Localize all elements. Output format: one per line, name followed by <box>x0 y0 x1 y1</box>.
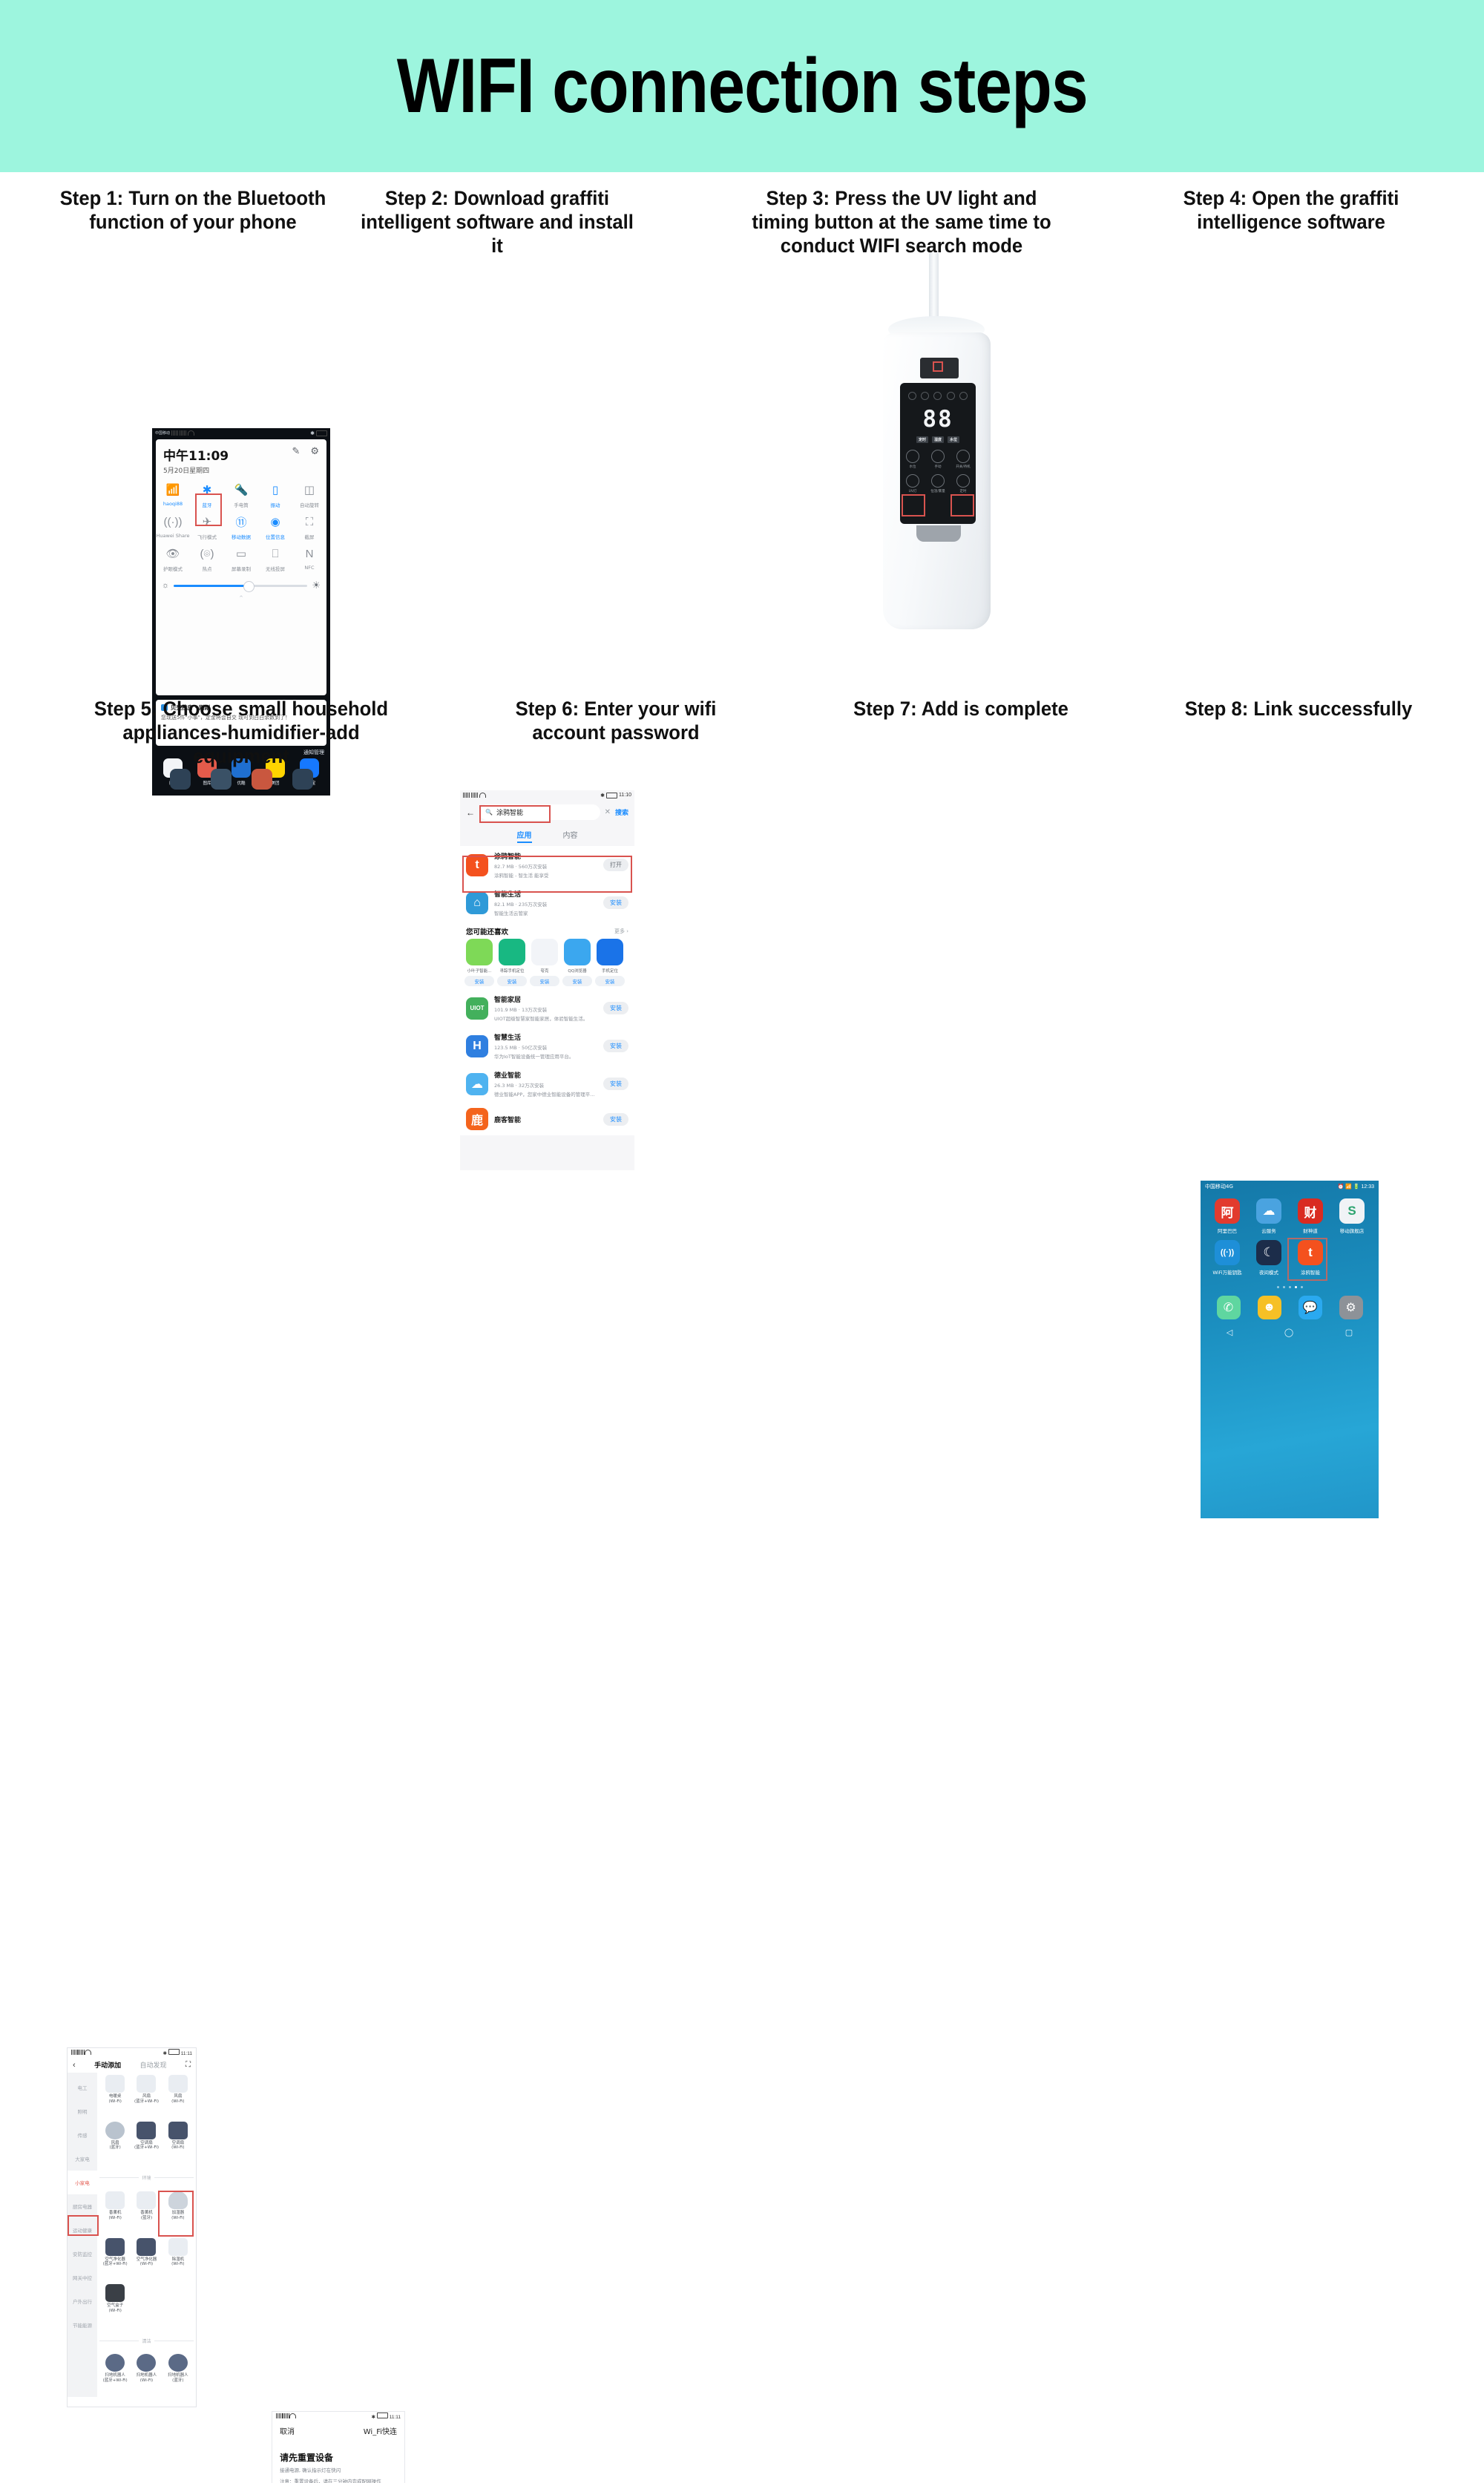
app-night-mode[interactable]: ☾夜间模式 <box>1248 1240 1290 1276</box>
device-base <box>916 525 961 542</box>
display-tags: 定时 湿度 水位 <box>900 436 976 443</box>
toggle-label: Huawei Share <box>157 533 190 539</box>
brightness-high-icon: ☀ <box>312 580 321 591</box>
recommend-item[interactable]: 小叶子智能...安装 <box>464 939 494 986</box>
water-icon <box>947 392 955 400</box>
device-item[interactable]: 空气盒子(Wi-Fi) <box>99 2284 131 2327</box>
app-name: 寻踪手机定位 <box>497 968 527 974</box>
sidebar-item-large-appliance[interactable]: 大家电 <box>68 2147 97 2171</box>
phone-icon[interactable]: ✆ <box>1217 1296 1241 1319</box>
app-icon: ☁ <box>1256 1198 1281 1224</box>
status-bar: 中国移动 ✱ <box>152 428 330 438</box>
toggle-label: 手电筒 <box>234 501 249 508</box>
device-thumbnail <box>137 2075 156 2093</box>
signal-icon <box>180 430 186 436</box>
nfc-icon: N <box>301 545 318 562</box>
manual-icon <box>931 450 945 463</box>
install-button[interactable]: 安装 <box>603 1078 628 1090</box>
clock-date: 5月20日星期四 <box>163 465 229 475</box>
app-icon <box>564 939 591 965</box>
app-icon: 财 <box>1298 1198 1323 1224</box>
slider-track[interactable] <box>174 585 307 587</box>
dock: ✆ ☻ 💬 ⚙ <box>1201 1296 1379 1319</box>
app-icon <box>499 939 525 965</box>
app-list-row[interactable]: ☁ 德业智能26.3 MB · 32万次安装德业智能APP，您家中德业智能设备的… <box>460 1065 634 1103</box>
toggle-vibrate[interactable]: ▯振动 <box>258 482 292 508</box>
browser-icon[interactable] <box>292 769 313 790</box>
status-time: 12:33 <box>1361 1184 1374 1190</box>
toggle-label: 截屏 <box>305 533 315 540</box>
messages-icon[interactable]: 💬 <box>1298 1296 1322 1319</box>
app-meta: 82.1 MB · 235万次安装 <box>494 900 597 908</box>
eye-comfort-icon: 👁 <box>165 545 181 562</box>
contacts-icon[interactable] <box>211 769 232 790</box>
digital-display: 88 <box>900 406 976 433</box>
camera-icon[interactable] <box>252 769 272 790</box>
phone-icon[interactable] <box>170 769 191 790</box>
install-button[interactable]: 安装 <box>464 976 494 986</box>
device-thumbnail <box>137 2238 156 2256</box>
toggle-eye-comfort[interactable]: 👁护眼模式 <box>156 545 190 572</box>
install-button[interactable]: 安装 <box>603 1040 628 1052</box>
device-thumbnail <box>137 2354 156 2372</box>
toggle-label: NFC <box>304 565 314 571</box>
toggle-nfc[interactable]: NNFC <box>292 545 326 572</box>
screenshot-icon: ⛶ <box>301 514 318 530</box>
app-list-row[interactable]: 鹿 鹿客智能 安装 <box>460 1103 634 1135</box>
install-button[interactable]: 安装 <box>530 976 559 986</box>
toggle-location[interactable]: ◉位置信息 <box>258 514 292 540</box>
app-list-row[interactable]: H 智慧生活123.5 MB · 50亿次安装华为IoT智能设备统一管理应用平台… <box>460 1027 634 1065</box>
device-thumbnail <box>105 2238 125 2256</box>
signal-icon <box>78 2050 85 2055</box>
device-thumbnail <box>137 2191 156 2209</box>
toggle-label: 热点 <box>203 565 212 572</box>
tag-water: 水位 <box>948 436 959 443</box>
step-6-heading: Step 6: Enter your wifi account password <box>482 698 750 745</box>
step-5-heading: Step 5: Choose small household appliance… <box>72 698 410 769</box>
power-icon <box>933 392 942 400</box>
wifi-icon: 📶 <box>165 482 181 498</box>
toggle-label: 位置信息 <box>266 533 285 540</box>
app-icon: S <box>1339 1198 1365 1224</box>
device-thumbnail <box>105 2122 125 2139</box>
tab-manual-add[interactable]: 手动添加 <box>94 2060 121 2070</box>
app-desc: 德业智能APP，您家中德业智能设备的管理平... <box>494 1090 597 1098</box>
toggle-auto-rotate[interactable]: ◫自动旋转 <box>292 482 326 508</box>
signal-icon <box>283 2413 289 2418</box>
huawei-share-icon: ((·)) <box>165 514 181 530</box>
button-water-level[interactable]: 水位 <box>900 450 925 469</box>
button-uv-light[interactable]: UV灯 <box>900 474 925 493</box>
collapse-handle-icon[interactable]: ⌃ <box>156 594 326 603</box>
reset-title: 请先重置设备 <box>272 2451 404 2464</box>
install-button[interactable]: 安装 <box>497 976 527 986</box>
page-title: WIFI connection steps <box>396 42 1087 131</box>
gear-icon[interactable]: ⚙ <box>310 445 319 457</box>
timer-button-highlight-box <box>951 494 974 516</box>
alarm-icon: ⏰ <box>1337 1184 1344 1190</box>
app-meta: 26.3 MB · 32万次安装 <box>494 1081 597 1089</box>
section-environment: 环境 <box>99 2168 194 2188</box>
page-indicator <box>1201 1286 1379 1288</box>
app-icon <box>597 939 623 965</box>
device-thumbnail <box>168 2354 188 2372</box>
step-4-heading: Step 4: Open the graffiti intelligence s… <box>1150 187 1432 234</box>
sidebar-item-energy[interactable]: 节能能源 <box>68 2313 97 2337</box>
install-button[interactable]: 安装 <box>603 1002 628 1014</box>
status-bar: ✱ 11:11 <box>272 2412 404 2421</box>
app-wifi-master[interactable]: ((·))WiFi万能钥匙 <box>1206 1240 1248 1276</box>
bluetooth-icon: ✱ <box>163 2051 167 2056</box>
step-2-heading: Step 2: Download graffiti intelligent so… <box>356 187 638 258</box>
step-8-heading: Step 8: Link successfully <box>1158 698 1439 721</box>
step-1-heading: Step 1: Turn on the Bluetooth function o… <box>52 187 334 234</box>
clock-time: 中午11:09 <box>163 445 229 464</box>
step-2-screenshot: ✕ ✱11:10 ← 🔍 涂鸦智能 ✕ 搜索 应用 内容 t 涂鸦智能 82.7… <box>460 790 634 1170</box>
toggle-label: haoqi88 <box>163 501 183 507</box>
recommend-title: 您可能还喜欢 <box>466 926 508 937</box>
brightness-slider[interactable]: ☼ ☀ <box>156 580 326 591</box>
app-desc: 华为IoT智能设备统一管理应用平台。 <box>494 1052 597 1060</box>
app-list-row[interactable]: UIOT 智能家居101.9 MB · 13万次安装UIOT超级智慧家智能家居，… <box>460 989 634 1027</box>
header: ‹ 手动添加 自动发现 ⛶ <box>68 2057 196 2073</box>
humidity-icon <box>921 392 929 400</box>
app-cloud[interactable]: ☁云服务 <box>1248 1198 1290 1234</box>
sidebar-item-small-appliance[interactable]: 小家电 <box>68 2171 97 2194</box>
tag-humidity: 湿度 <box>932 436 944 443</box>
toggle-label: 护眼模式 <box>163 565 183 572</box>
signal-icon <box>171 430 178 436</box>
status-bar: ✱11:10 <box>460 790 634 800</box>
app-icon <box>531 939 558 965</box>
tuya-app-highlight-box <box>1287 1238 1327 1281</box>
bluetooth-icon: ✱ <box>600 793 605 798</box>
app-mobile-store[interactable]: S移动旗舰店 <box>1331 1198 1373 1234</box>
toggle-wifi[interactable]: 📶haoqi88 <box>156 482 190 508</box>
step-4-screenshot: 中国移动4G ⏰ 📶 🔋 12:33 阿阿里巴巴 ☁云服务 财财神道 S移动旗舰… <box>1201 1181 1379 1518</box>
device-thumbnail <box>105 2284 125 2302</box>
recommend-item[interactable]: 手机定位安装 <box>595 939 625 986</box>
reset-card: 请先重置设备 接通电源, 确认指示灯在快闪 注意：重置设备后，请在三分钟内完成配… <box>272 2441 404 2483</box>
button-timer[interactable]: 定时 <box>951 474 976 493</box>
device-thumbnail <box>105 2191 125 2209</box>
app-caishendao[interactable]: 财财神道 <box>1290 1198 1331 1234</box>
tab-content[interactable]: 内容 <box>563 829 578 843</box>
app-icon: ((·)) <box>1215 1240 1240 1265</box>
wifi-icon <box>188 430 194 436</box>
device-item[interactable]: 扫地机器人(Wi-Fi) <box>131 2354 162 2397</box>
device-item[interactable]: 扫地机器人(蓝牙+Wi-Fi) <box>99 2354 131 2397</box>
wifi-icon <box>289 2413 296 2418</box>
clear-icon[interactable]: ✕ <box>605 808 611 816</box>
device-thumbnail <box>168 2122 188 2139</box>
recommend-item[interactable]: 寻踪手机定位安装 <box>497 939 527 986</box>
settings-icon[interactable]: ⚙ <box>1339 1296 1363 1319</box>
signal-icon <box>71 2050 78 2055</box>
small-appliance-highlight-box <box>68 2215 99 2236</box>
hotspot-icon: (⌾) <box>199 545 215 562</box>
bluetooth-highlight-box <box>195 493 222 526</box>
toggle-hotspot[interactable]: (⌾)热点 <box>190 545 224 572</box>
app-name: 鹿客智能 <box>494 1115 597 1124</box>
mode-label[interactable]: Wi_Fi快连 <box>364 2425 397 2436</box>
toggle-label: 飞行模式 <box>197 533 217 540</box>
bluetooth-icon: ✱ <box>372 2415 375 2420</box>
toggle-label: 屏幕录制 <box>232 565 251 572</box>
step-5-device-list-screenshot: ✱ 11:11 ‹ 手动添加 自动发现 ⛶ 电工 照明 传感 大家电 小家电 厨… <box>67 2047 197 2407</box>
reset-desc-1: 接通电源, 确认指示灯在快闪 <box>272 2464 404 2475</box>
device-item[interactable]: 扫地机器人(蓝牙) <box>162 2354 194 2397</box>
section-cleaning: 清洁 <box>99 2331 194 2351</box>
battery-icon <box>606 793 617 798</box>
auto-rotate-icon: ◫ <box>301 482 318 498</box>
carrier-label: 中国移动 <box>155 430 170 436</box>
install-button[interactable]: 安装 <box>603 1113 628 1126</box>
app-desc: UIOT超级智慧家智能家居，体验智能生活。 <box>494 1014 597 1022</box>
cast-icon: ⎕ <box>267 545 283 562</box>
edit-icon[interactable]: ✎ <box>292 445 300 457</box>
sidebar-item-security[interactable]: 安防监控 <box>68 2242 97 2266</box>
app-desc: 智能生活云管家 <box>494 909 597 916</box>
device-item[interactable]: 电暖桌(Wi-Fi) <box>99 2075 131 2118</box>
app-name: 小叶子智能... <box>464 968 494 974</box>
app-name: 手机定位 <box>595 968 625 974</box>
status-time: 11:10 <box>619 793 631 798</box>
brightness-low-icon: ☼ <box>162 581 169 590</box>
back-icon[interactable]: ‹ <box>73 2061 76 2070</box>
mode-icon <box>908 392 916 400</box>
sidebar-item-outdoor[interactable]: 户外出行 <box>68 2289 97 2313</box>
tuya-result-highlight-box <box>462 856 632 893</box>
toggle-flashlight[interactable]: 🔦手电筒 <box>224 482 258 508</box>
wifi-icon: 📶 <box>1345 1184 1352 1190</box>
battery-icon <box>377 2413 388 2418</box>
step-5-reset-screenshot: ✱ 11:11 取消 Wi_Fi快连 请先重置设备 接通电源, 确认指示灯在快闪… <box>272 2411 405 2483</box>
button-mist[interactable]: 恒湿/雾量 <box>925 474 951 493</box>
scan-icon[interactable]: ⛶ <box>185 2061 191 2069</box>
water-level-icon <box>906 450 919 463</box>
sidebar-item-gateway[interactable]: 网关中控 <box>68 2266 97 2289</box>
recommend-item[interactable]: QQ浏览器安装 <box>562 939 592 986</box>
tag-timer: 定时 <box>916 436 928 443</box>
mobile-data-icon: ⑪ <box>233 514 249 530</box>
sidebar-item-lighting[interactable]: 照明 <box>68 2099 97 2123</box>
toggle-cast[interactable]: ⎕无线投屏 <box>258 545 292 572</box>
tab-auto-discover[interactable]: 自动发现 <box>140 2060 167 2070</box>
dock <box>160 769 323 790</box>
power-icon <box>956 450 970 463</box>
wifi-icon <box>85 2050 91 2055</box>
cancel-button[interactable]: 取消 <box>280 2425 295 2436</box>
button-manual[interactable]: 手动 <box>925 450 951 469</box>
tab-apps[interactable]: 应用 <box>517 829 532 843</box>
app-meta: 101.9 MB · 13万次安装 <box>494 1006 597 1013</box>
battery-icon <box>316 430 327 436</box>
lock-icon <box>959 392 968 400</box>
wifi-icon <box>479 793 486 798</box>
contacts-icon[interactable]: ☻ <box>1258 1296 1281 1319</box>
bluetooth-icon: ✱ <box>310 430 315 436</box>
slider-knob[interactable] <box>243 581 255 592</box>
humidifier-highlight-box <box>158 2191 194 2237</box>
signal-icon <box>463 793 470 798</box>
install-button[interactable]: 安装 <box>595 976 625 986</box>
toggle-mobile-data[interactable]: ⑪移动数据 <box>224 514 258 540</box>
tab-bar: 应用 内容 <box>460 824 634 846</box>
smart-life-app-icon: ⌂ <box>466 892 488 914</box>
mist-icon <box>931 474 945 488</box>
home-icon[interactable]: ◯ <box>1284 1328 1293 1337</box>
app-meta: 123.5 MB · 50亿次安装 <box>494 1043 597 1051</box>
device-item[interactable]: 空调扇(Wi-Fi) <box>162 2122 194 2165</box>
toggle-label: 移动数据 <box>232 533 251 540</box>
quick-settings-panel: 中午11:09 5月20日星期四 ✎ ⚙ 📶haoqi88 ✱蓝牙 🔦手电筒 ▯… <box>156 439 326 695</box>
search-button[interactable]: 搜索 <box>615 807 628 817</box>
deye-app-icon: ☁ <box>466 1073 488 1095</box>
device-item[interactable]: 空气净化器(Wi-Fi) <box>131 2238 162 2281</box>
back-icon[interactable]: ◁ <box>1227 1328 1232 1337</box>
carrier-label: 中国移动4G <box>1205 1183 1233 1190</box>
recommend-item[interactable]: 夸克安装 <box>530 939 559 986</box>
app-grid-row-1: 阿阿里巴巴 ☁云服务 财财神道 S移动旗舰店 <box>1201 1193 1379 1234</box>
install-button[interactable]: 安装 <box>603 896 628 909</box>
app-alibaba[interactable]: 阿阿里巴巴 <box>1206 1198 1248 1234</box>
device-item[interactable]: 风扇(蓝牙+Wi-Fi) <box>131 2075 162 2118</box>
signal-icon <box>276 2413 283 2418</box>
device-item[interactable]: 香薰机(Wi-Fi) <box>99 2191 131 2234</box>
step-7-heading: Step 7: Add is complete <box>827 698 1095 721</box>
app-icon: ☾ <box>1256 1240 1281 1265</box>
toggle-label: 振动 <box>271 501 280 508</box>
recommend-row: 小叶子智能...安装 寻踪手机定位安装 夸克安装 QQ浏览器安装 手机定位安装 <box>460 939 634 989</box>
app-name: 智能家居 <box>494 994 597 1004</box>
device-item[interactable]: 风扇(Wi-Fi) <box>162 2075 194 2118</box>
device-item[interactable]: 风扇(蓝牙) <box>99 2122 131 2165</box>
back-icon[interactable]: ← <box>466 807 475 818</box>
status-bar: 中国移动4G ⏰ 📶 🔋 12:33 <box>1201 1181 1379 1193</box>
flashlight-icon: 🔦 <box>233 482 249 498</box>
device-thumbnail <box>168 2075 188 2093</box>
location-icon: ◉ <box>267 514 283 530</box>
battery-icon: 🔋 <box>1353 1184 1360 1190</box>
step-3-device-photo: 88 定时 湿度 水位 水位 手动 开关/待机 UV灯 恒湿/雾量 定时 <box>842 245 1028 631</box>
status-time: 11:11 <box>181 2051 192 2056</box>
app-name: 智慧生活 <box>494 1032 597 1042</box>
status-bar: ✱ 11:11 <box>68 2048 196 2057</box>
mist-nozzle <box>929 252 939 327</box>
device-item[interactable]: 空调扇(蓝牙+Wi-Fi) <box>131 2122 162 2165</box>
reset-desc-2: 注意：重置设备后，请在三分钟内完成配网操作 <box>272 2475 404 2483</box>
toggle-screen-record[interactable]: ▭屏幕录制 <box>224 545 258 572</box>
upper-highlight-box <box>933 361 943 372</box>
button-grid: 水位 手动 开关/待机 UV灯 恒湿/雾量 定时 <box>900 450 976 493</box>
quick-toggle-grid: 📶haoqi88 ✱蓝牙 🔦手电筒 ▯振动 ◫自动旋转 ((·))Huawei … <box>156 482 326 572</box>
search-highlight-box <box>479 805 551 823</box>
timer-icon <box>956 474 970 488</box>
recommend-more-link[interactable]: 更多 › <box>614 928 628 935</box>
device-thumbnail <box>137 2122 156 2139</box>
device-thumbnail <box>105 2354 125 2372</box>
status-time: 11:11 <box>390 2415 401 2420</box>
app-icon <box>466 939 493 965</box>
header: 取消 Wi_Fi快连 <box>272 2421 404 2441</box>
close-icon[interactable]: ✕ <box>620 790 630 793</box>
title-banner: WIFI connection steps <box>0 0 1484 172</box>
sidebar-item-electrician[interactable]: 电工 <box>68 2076 97 2099</box>
uv-button-highlight-box <box>902 494 925 516</box>
install-button[interactable]: 安装 <box>562 976 592 986</box>
uiot-app-icon: UIOT <box>466 997 488 1020</box>
vibrate-icon: ▯ <box>267 482 283 498</box>
app-name: QQ浏览器 <box>562 968 592 974</box>
battery-icon <box>168 2049 180 2055</box>
navigation-bar: ◁ ◯ ▢ <box>1201 1324 1379 1340</box>
app-icon: 阿 <box>1215 1198 1240 1224</box>
sidebar-item-sensor[interactable]: 传感 <box>68 2123 97 2147</box>
uv-light-icon <box>906 474 919 488</box>
huawei-app-icon: H <box>466 1035 488 1057</box>
toggle-screenshot[interactable]: ⛶截屏 <box>292 514 326 540</box>
toggle-label: 自动旋转 <box>300 501 319 508</box>
display-value: 88 <box>922 406 953 433</box>
recommend-header: 您可能还喜欢 更多 › <box>460 922 634 939</box>
loock-app-icon: 鹿 <box>466 1108 488 1130</box>
device-item[interactable]: 除湿机(Wi-Fi) <box>162 2238 194 2281</box>
device-thumbnail <box>105 2075 125 2093</box>
app-name: 夸克 <box>530 968 559 974</box>
device-item[interactable]: 空气净化器(蓝牙+Wi-Fi) <box>99 2238 131 2281</box>
screen-record-icon: ▭ <box>233 545 249 562</box>
app-name: 德业智能 <box>494 1070 597 1080</box>
toggle-label: 无线投屏 <box>266 565 285 572</box>
indicator-row <box>900 383 976 400</box>
button-power[interactable]: 开关/待机 <box>951 450 976 469</box>
recents-icon[interactable]: ▢ <box>1345 1328 1353 1337</box>
toggle-huawei-share[interactable]: ((·))Huawei Share <box>156 514 190 540</box>
device-thumbnail <box>168 2238 188 2256</box>
signal-icon <box>471 793 478 798</box>
